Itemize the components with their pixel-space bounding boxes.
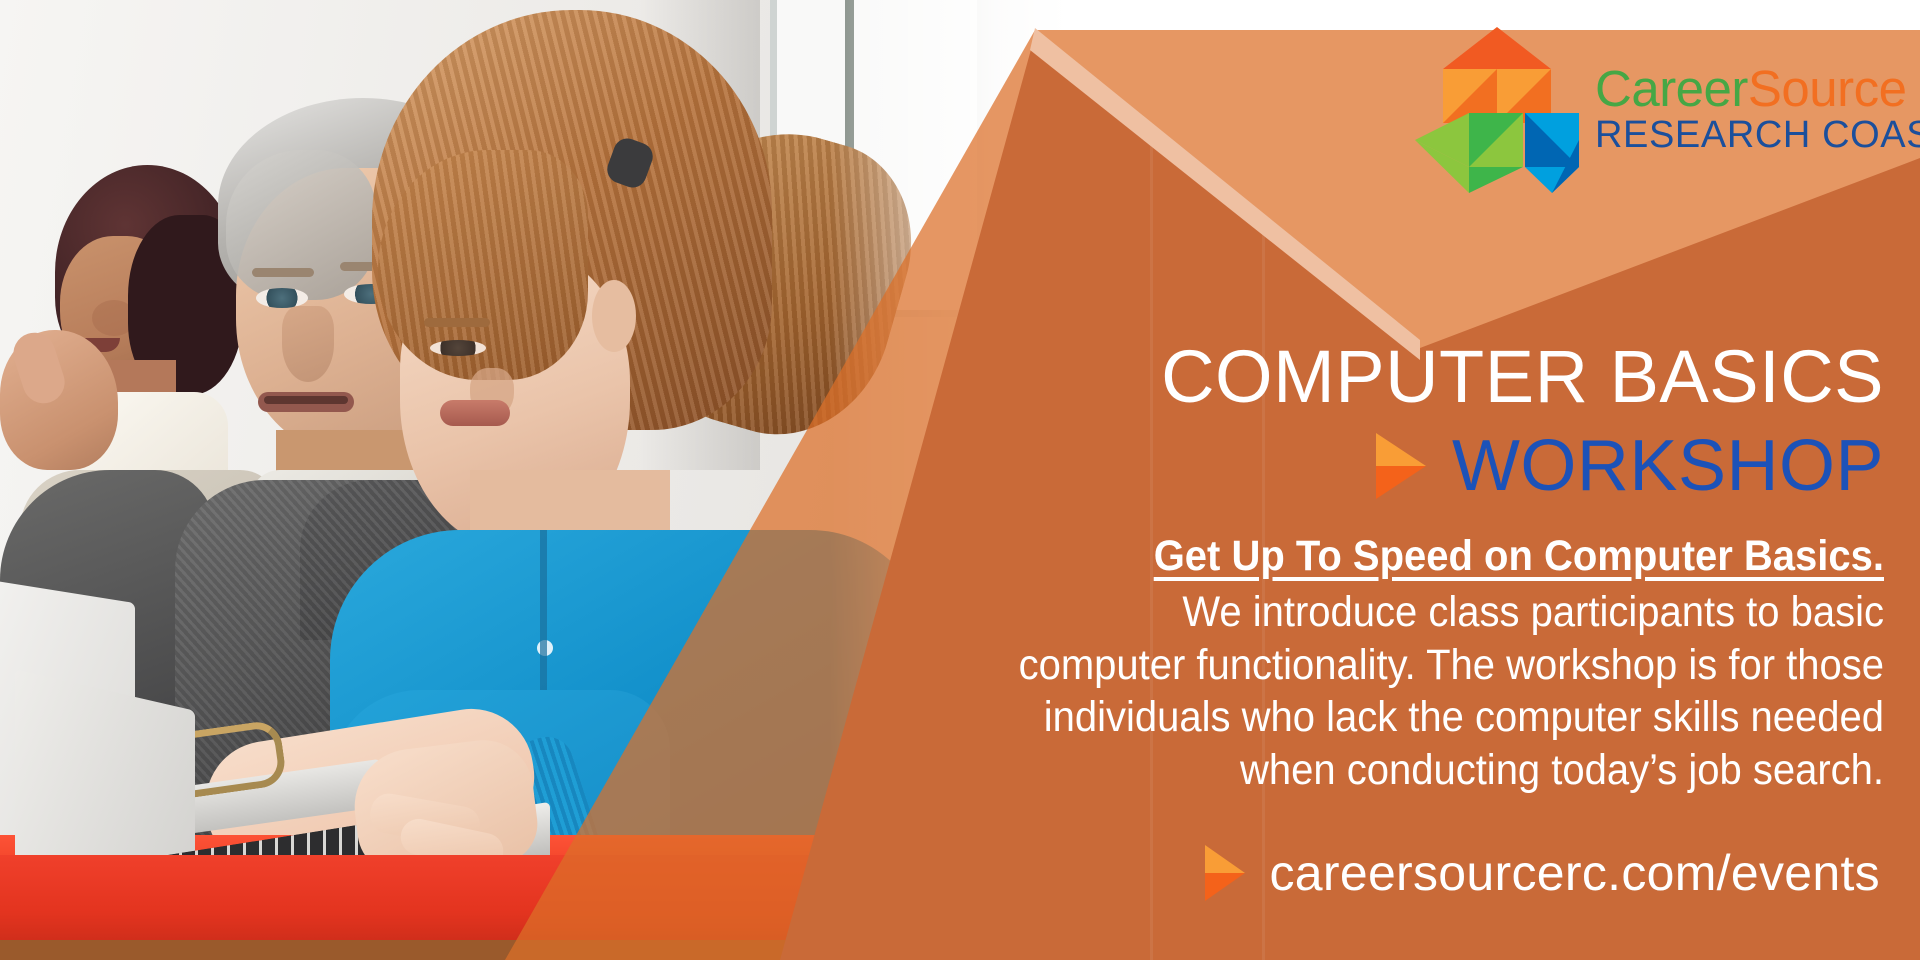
body-line: computer functionality. The workshop is … [926,639,1884,691]
logo-career-text: Career [1595,60,1748,117]
photo-person3-brow [424,318,490,327]
body-line: individuals who lack the computer skills… [926,691,1884,743]
photo-person3-eye [430,340,486,356]
cta-url-link[interactable]: careersourcerc.com/events [1269,844,1880,902]
photo-person3-ear [592,280,636,352]
body-copy: Get Up To Speed on Computer Basics. We i… [926,530,1884,796]
logo-source-text: Source [1748,60,1907,117]
careersource-logo[interactable]: CareerSource RESEARCH COAST [1413,22,1903,197]
body-line: We introduce class participants to basic [926,586,1884,638]
subtitle-row: WORKSHOP [724,430,1884,502]
page-subtitle: WORKSHOP [1452,430,1884,502]
body-lead-line: Get Up To Speed on Computer Basics. [1154,530,1884,582]
photo-person2-nose [282,306,334,382]
triangle-right-icon [1376,433,1426,499]
triangle-right-icon [1205,845,1245,901]
photo-person2-mouth-line [264,396,348,404]
photo-person2-brow-left [252,268,314,277]
page-title: COMPUTER BASICS [724,340,1884,414]
careersource-logo-mark-icon [1413,25,1581,195]
computer-basics-workshop-banner: CareerSource RESEARCH COAST COMPUTER BAS… [0,0,1920,960]
photo-person2-eye-left [256,288,308,308]
body-line: when conducting today’s job search. [926,744,1884,796]
logo-wordmark-line1: CareerSource [1595,62,1920,115]
photo-person3-lips [440,400,510,426]
photo-person2-hair-shadow [226,150,376,300]
logo-wordmark-line2: RESEARCH COAST [1595,115,1920,157]
cta-url-row[interactable]: careersourcerc.com/events [1205,844,1880,902]
logo-wordmark: CareerSource RESEARCH COAST [1595,62,1920,157]
headline-block: COMPUTER BASICS WORKSHOP [724,340,1884,502]
